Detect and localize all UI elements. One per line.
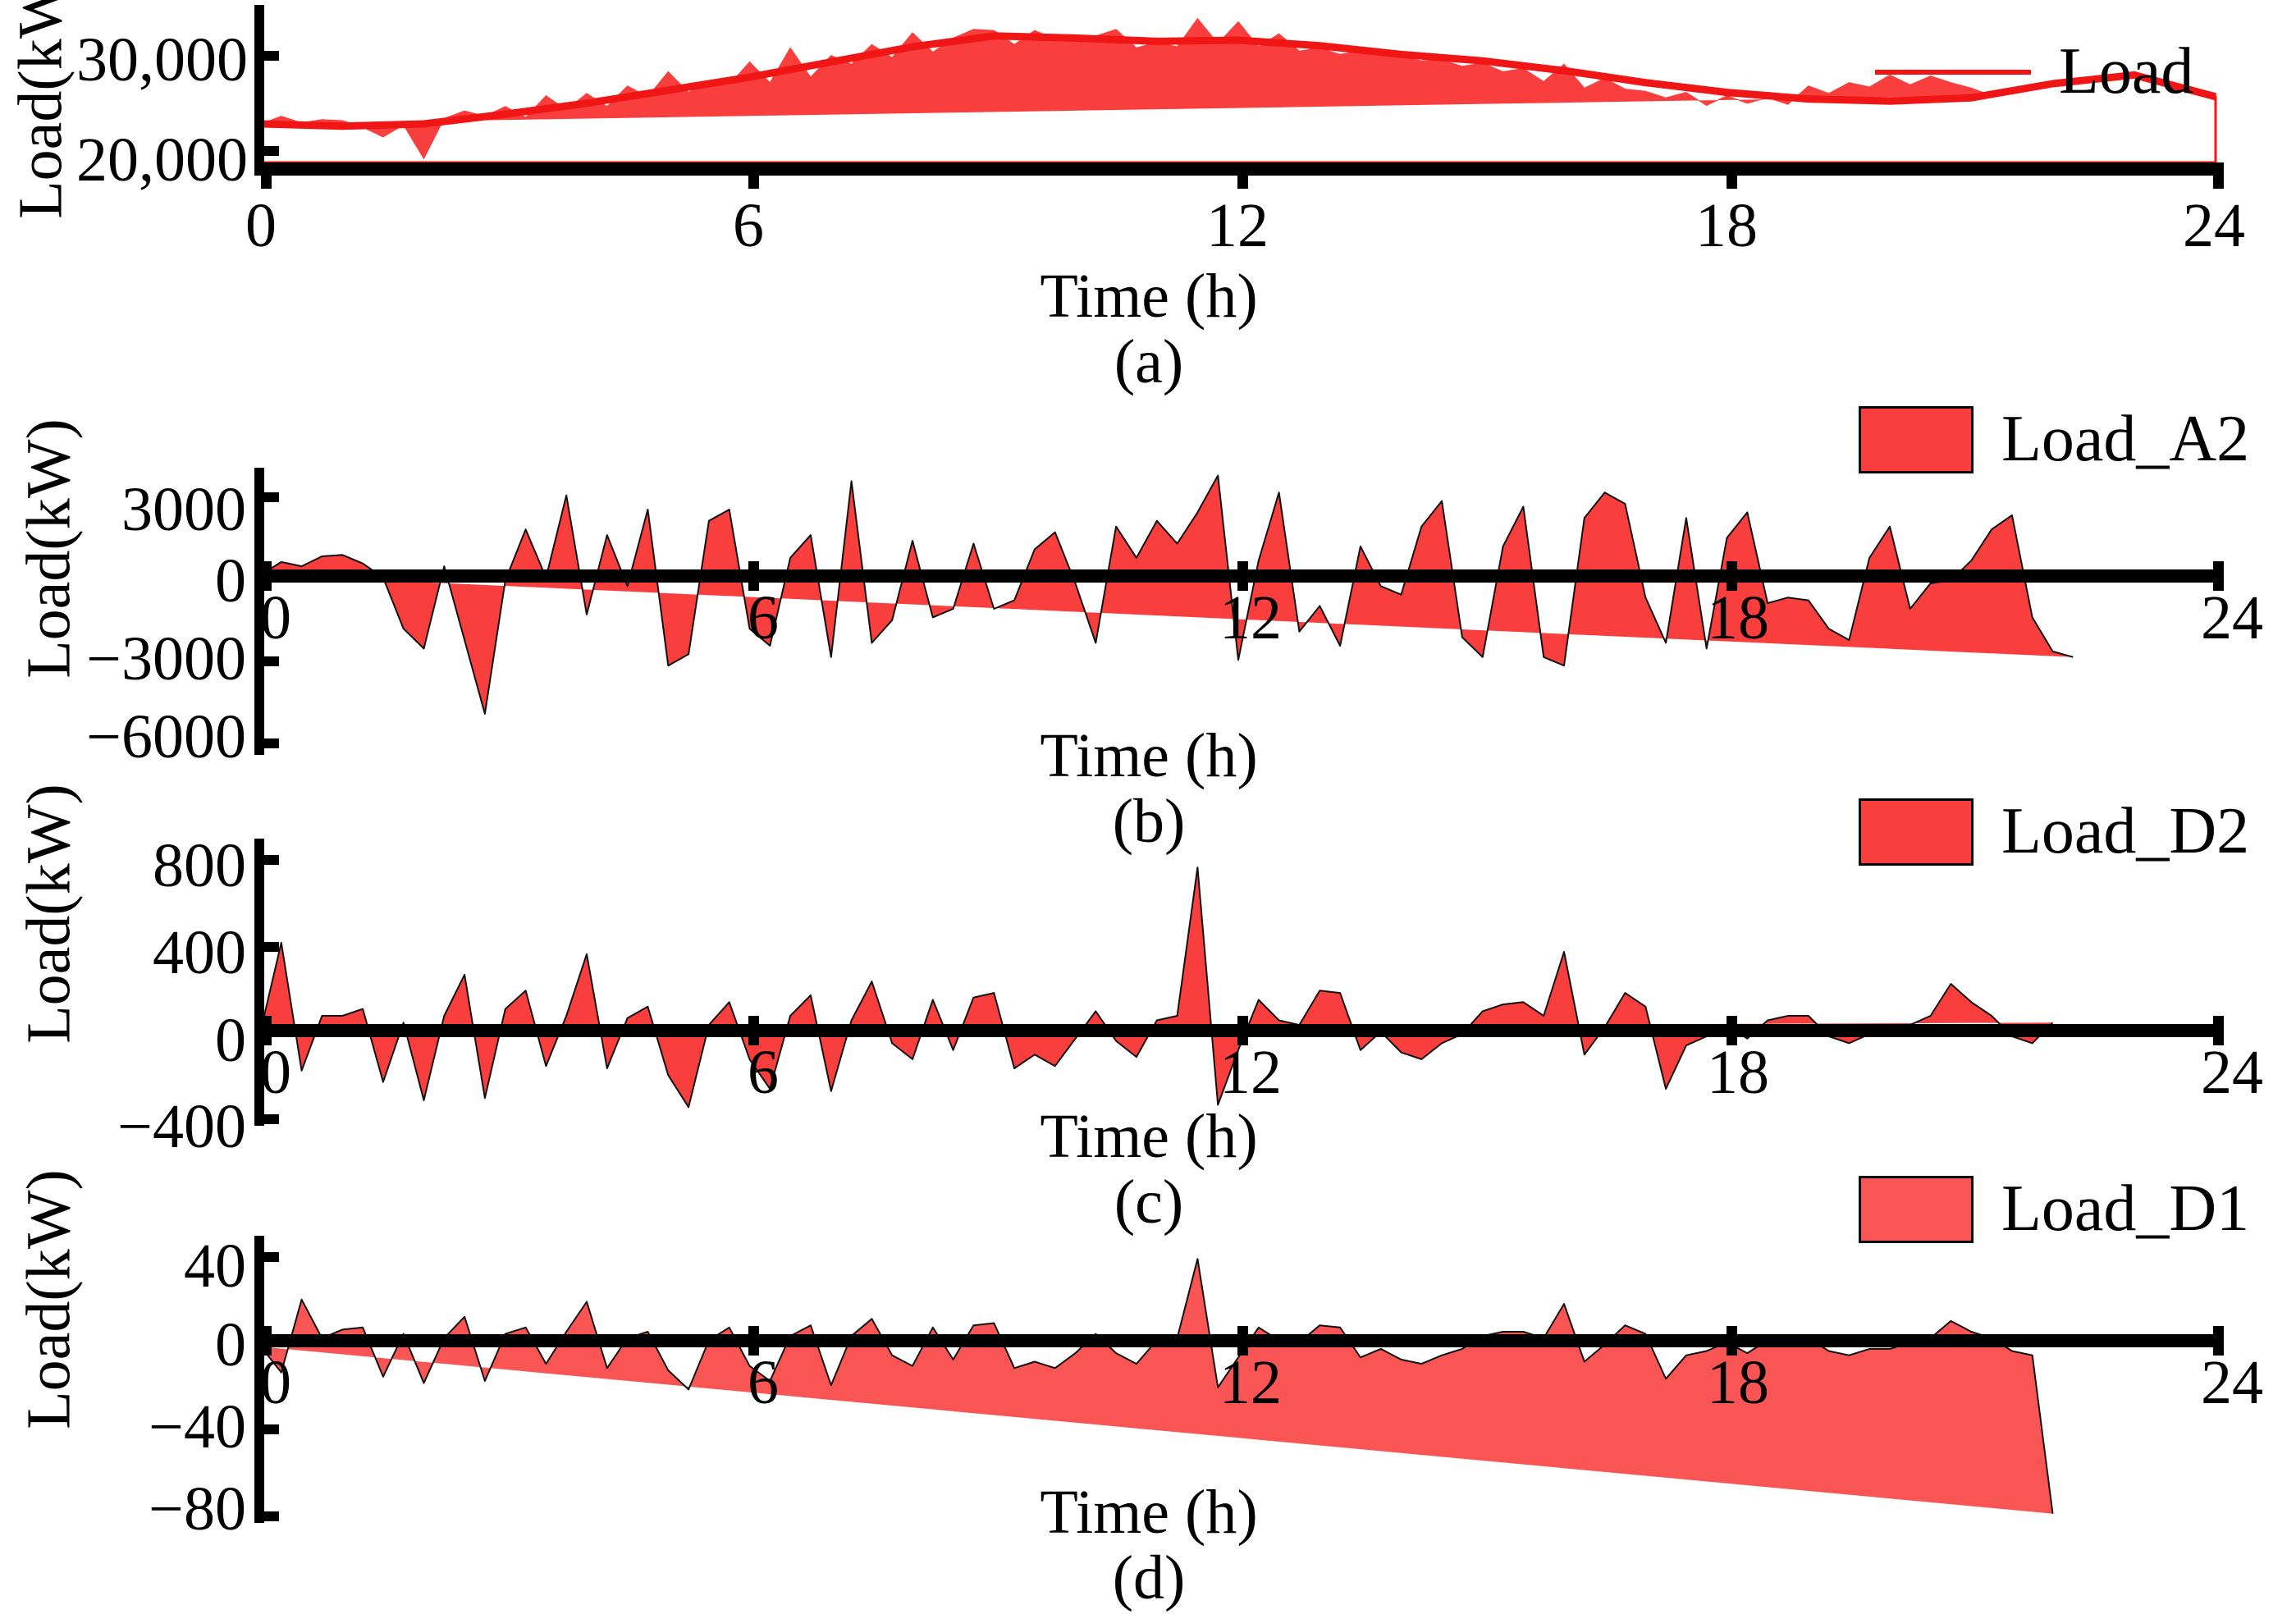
panel-c-x-axis-title: Time (h) (985, 1101, 1313, 1173)
panel-a: Load(kW) 30,000 20,000 0 6 12 18 24 Time… (0, 0, 2296, 386)
panel-c-legend: Load_D2 (1859, 794, 2249, 869)
panel-a-x-axis-title: Time (h) (985, 261, 1313, 332)
panel-b-xtick-12: 12 (1201, 583, 1300, 654)
panel-b-xtick-6: 6 (722, 583, 804, 654)
panel-a-xtick-24: 24 (2173, 190, 2255, 262)
panel-c-xtick-0: 0 (235, 1037, 317, 1109)
panel-d-xtick-0: 0 (235, 1347, 317, 1419)
panel-b-legend: Load_A2 (1859, 402, 2249, 477)
panel-b-xtick-0: 0 (235, 583, 317, 654)
panel-d-caption: (d) (1067, 1543, 1231, 1614)
legend-label-load-a2: Load_A2 (2001, 402, 2249, 477)
legend-box-swatch-load-d2 (1859, 798, 1974, 866)
panel-b-xtick-24: 24 (2183, 583, 2281, 654)
panel-d-xtick-12: 12 (1201, 1347, 1300, 1419)
panel-a-caption: (a) (1067, 327, 1231, 398)
panel-d-xtick-24: 24 (2183, 1347, 2281, 1419)
panel-c-xtick-12: 12 (1201, 1037, 1300, 1109)
panel-d-xtick-18: 18 (1689, 1347, 1787, 1419)
panel-d: Load(kW) 40 0 −40 −80 0 6 12 18 24 Time … (0, 1213, 2296, 1607)
legend-box-swatch-load-a2 (1859, 406, 1974, 473)
legend-label-load-d1: Load_D1 (2001, 1172, 2249, 1246)
panel-a-legend: Load (1875, 34, 2193, 109)
panel-c-xtick-6: 6 (722, 1037, 804, 1109)
wavelet-decomposition-figure: Load(kW) 30,000 20,000 0 6 12 18 24 Time… (0, 0, 2296, 1608)
panel-c-xtick-18: 18 (1689, 1037, 1787, 1109)
legend-label-load: Load (2059, 34, 2193, 109)
panel-d-xtick-6: 6 (722, 1347, 804, 1419)
legend-line-swatch-load (1875, 70, 2031, 75)
panel-b-xtick-18: 18 (1689, 583, 1787, 654)
panel-a-xtick-0: 0 (220, 190, 302, 262)
panel-c-xtick-24: 24 (2183, 1037, 2281, 1109)
panel-a-xtick-6: 6 (707, 190, 789, 262)
legend-box-swatch-load-d1 (1859, 1176, 1974, 1243)
panel-c: Load(kW) 800 400 0 −400 0 6 12 18 24 Tim… (0, 837, 2296, 1214)
panel-a-xtick-18: 18 (1685, 190, 1768, 262)
panel-d-legend: Load_D1 (1859, 1172, 2249, 1246)
panel-a-xtick-12: 12 (1196, 190, 1278, 262)
panel-b-x-axis-title: Time (h) (985, 720, 1313, 792)
panel-d-x-axis-title: Time (h) (985, 1477, 1313, 1548)
legend-label-load-d2: Load_D2 (2001, 794, 2249, 869)
